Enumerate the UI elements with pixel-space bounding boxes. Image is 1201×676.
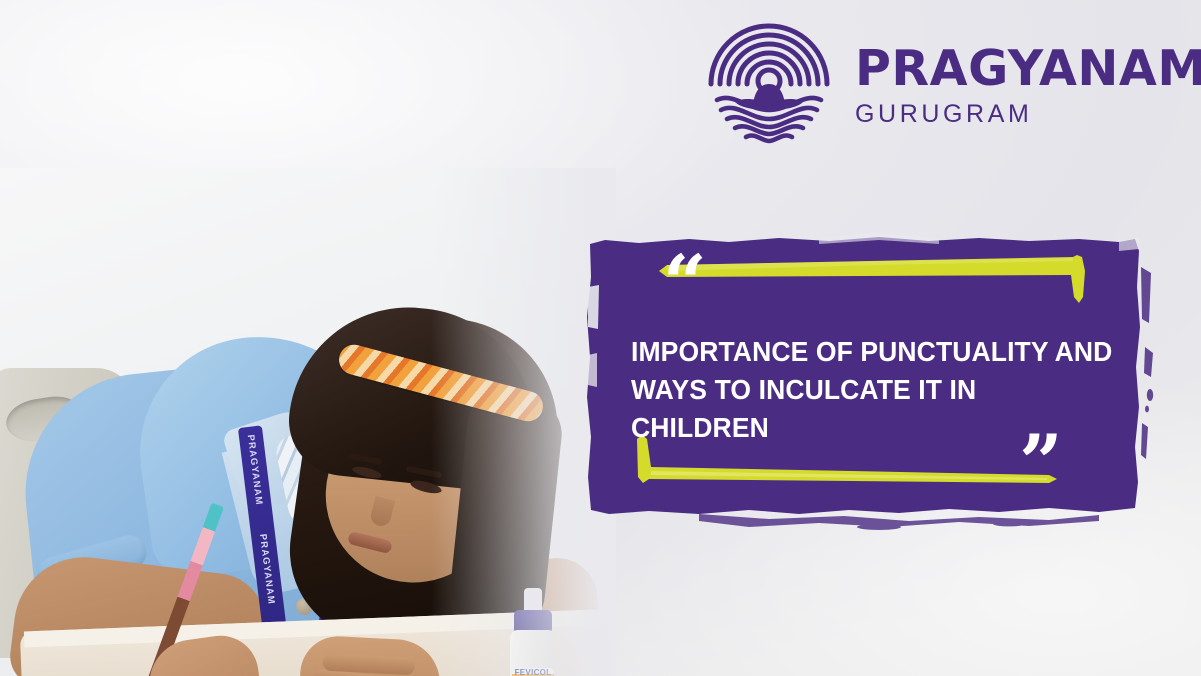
brand-logo[interactable]: PRAGYANAM GURUGRAM <box>705 18 1201 148</box>
glue-brand-label: FEVICOL <box>514 668 552 676</box>
quote-title-line-2: WAYS TO INCULCATE IT IN CHILDREN <box>631 371 1114 447</box>
quote-title: IMPORTANCE OF PUNCTUALITY AND WAYS TO IN… <box>631 333 1114 447</box>
lanyard-text: PRAGYANAM <box>245 434 265 506</box>
poster-canvas: PRAGYANAM PRAGYANAM PRAGYANAM PRAGYANAM … <box>0 0 1201 676</box>
quote-title-line-1: IMPORTANCE OF PUNCTUALITY AND <box>631 333 1114 371</box>
student-photo: PRAGYANAM PRAGYANAM PRAGYANAM PRAGYANAM … <box>0 168 616 676</box>
logo-subtitle: GURUGRAM <box>855 102 1201 127</box>
quote-card: “ ” IMPORTANCE OF PUNCTUALITY AND WAYS T… <box>589 239 1151 521</box>
logo-wordmark: PRAGYANAM GURUGRAM <box>855 40 1201 127</box>
logo-name: PRAGYANAM <box>855 44 1201 93</box>
lanyard-text: PRAGYANAM <box>257 533 277 605</box>
open-quote-icon: “ <box>663 245 707 321</box>
pragyanam-lotus-icon <box>705 18 833 148</box>
